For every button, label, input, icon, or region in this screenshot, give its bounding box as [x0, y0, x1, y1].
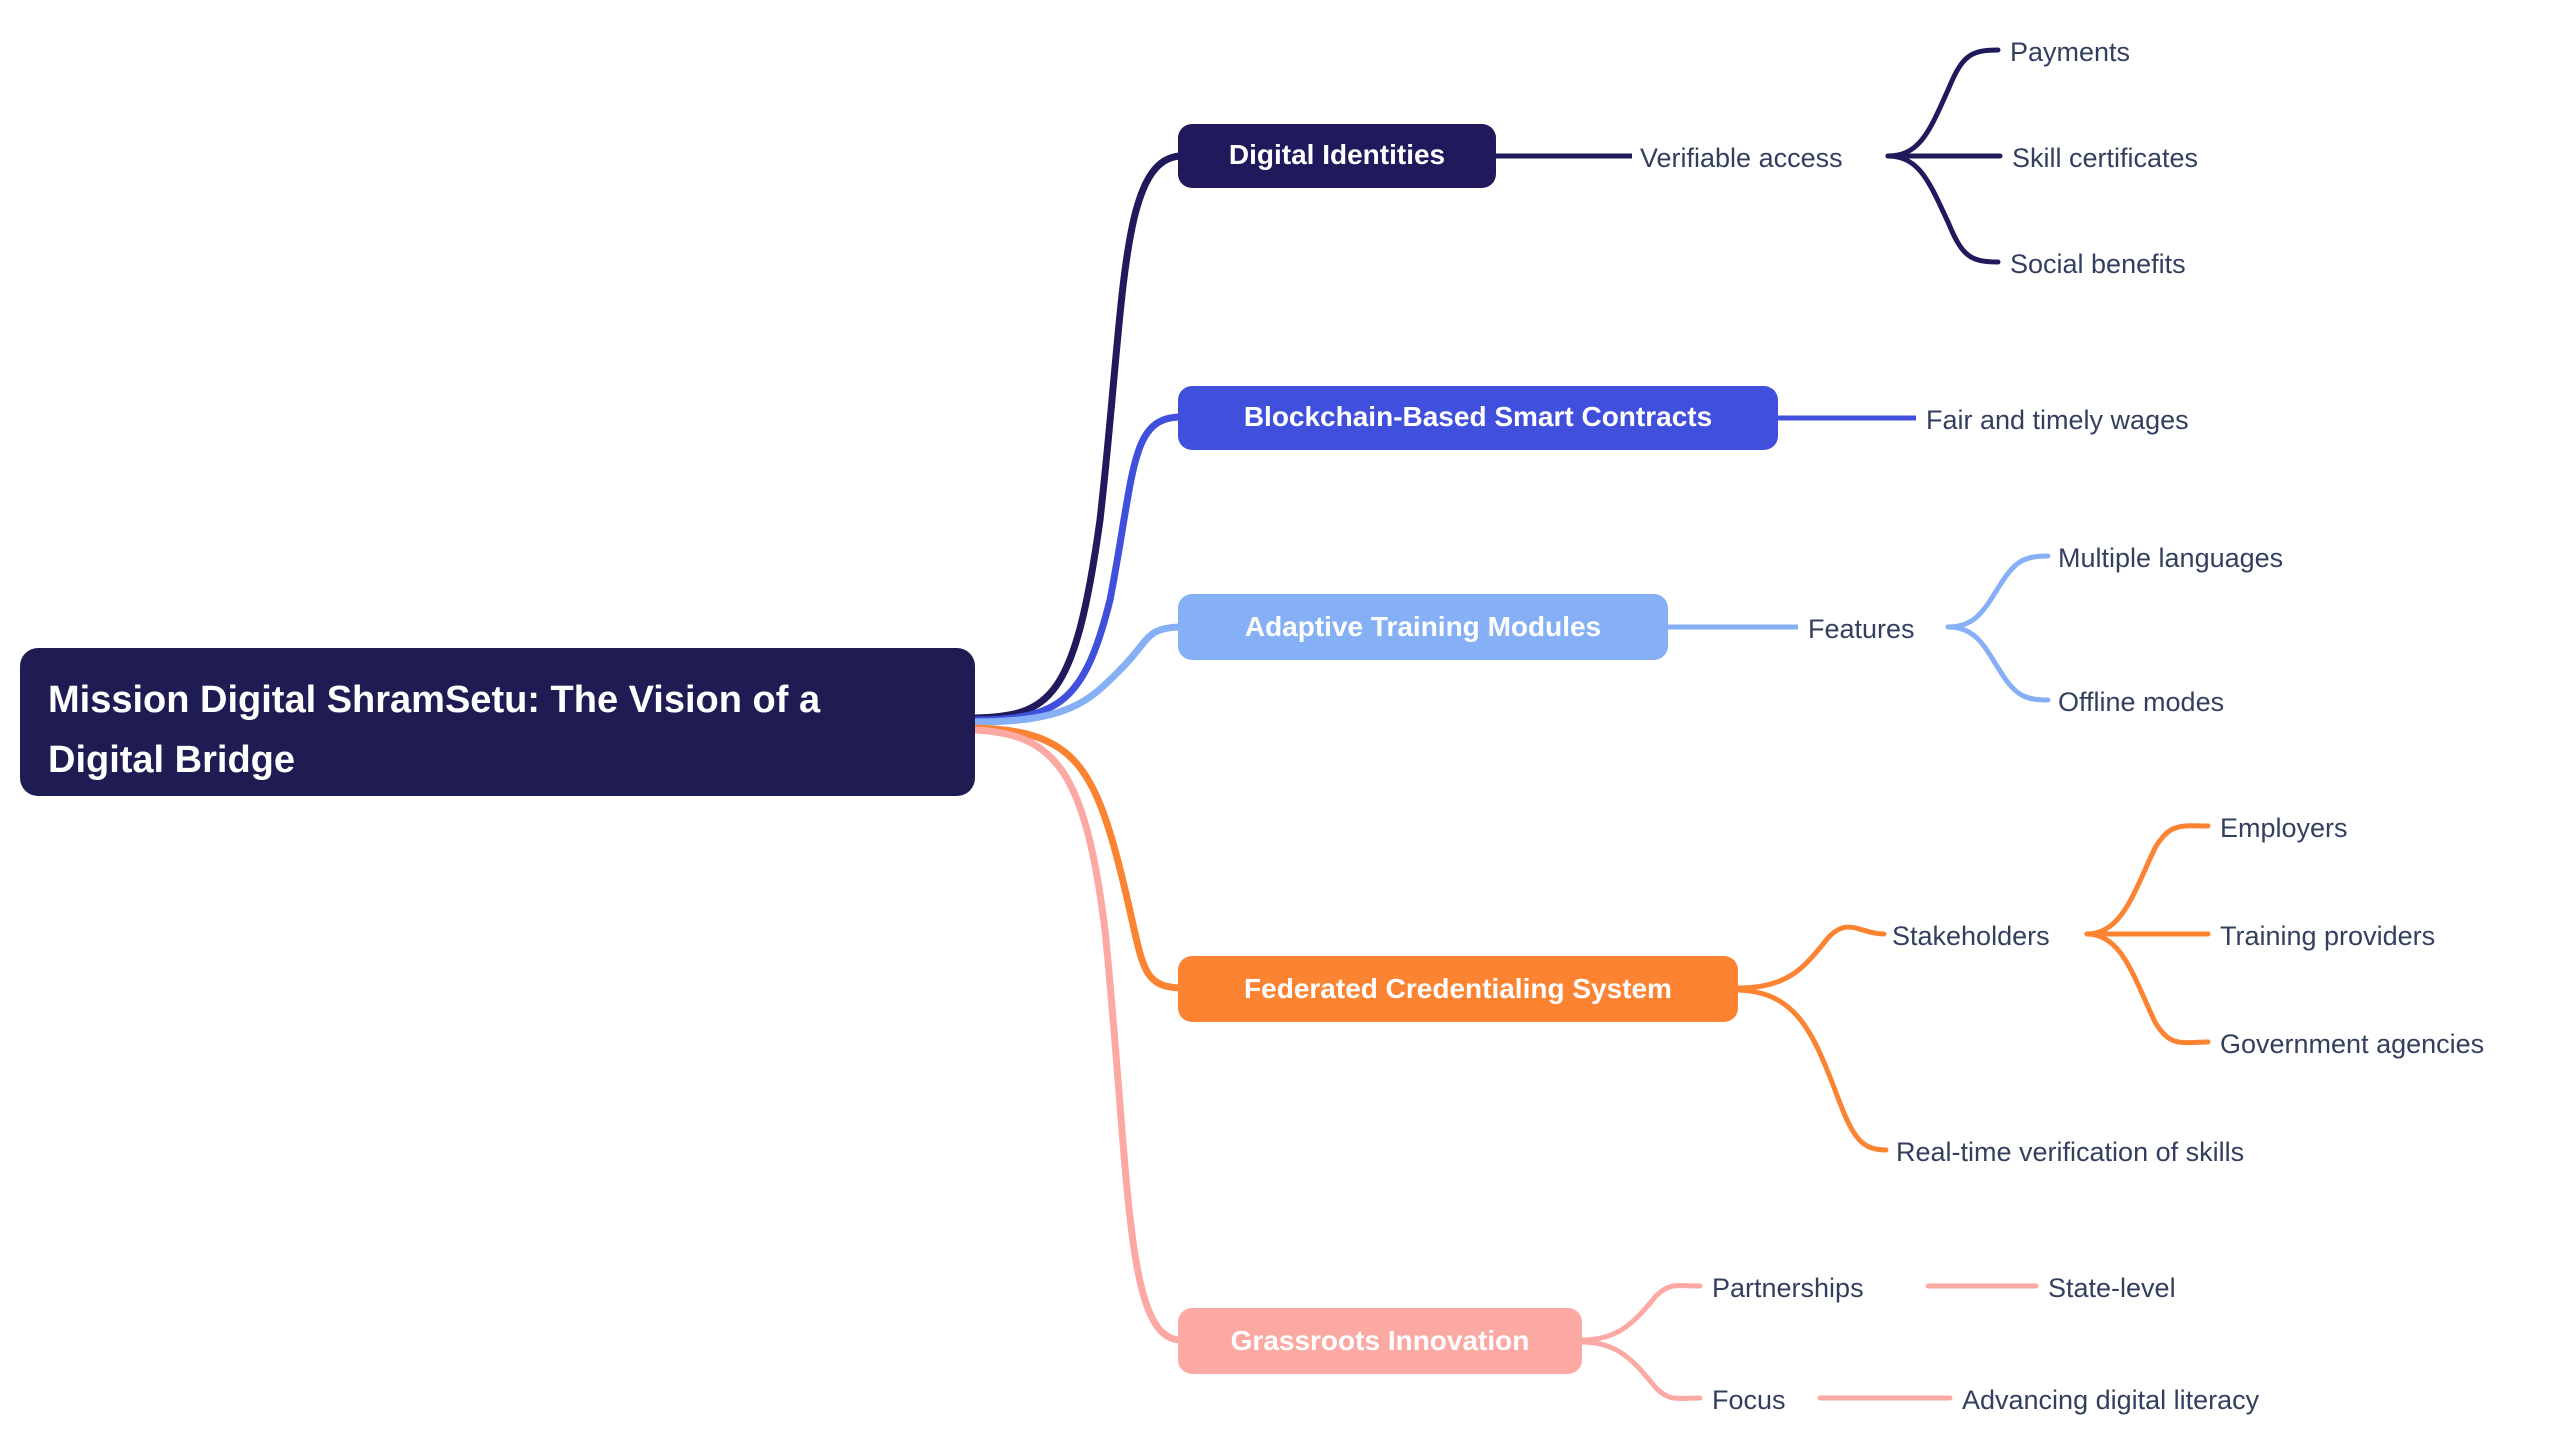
leaf-fair-and-timely-wages[interactable]: Fair and timely wages	[1926, 405, 2189, 435]
node-adaptive-training-modules-label: Adaptive Training Modules	[1245, 611, 1601, 642]
leaf-state-level[interactable]: State-level	[2048, 1273, 2176, 1303]
edge-group-root	[975, 156, 1180, 1340]
leaf-real-time-verification-of-skills[interactable]: Real-time verification of skills	[1896, 1137, 2244, 1167]
leaf-partnerships[interactable]: Partnerships	[1712, 1273, 1864, 1303]
leaf-payments[interactable]: Payments	[2010, 37, 2130, 67]
edge-features-to-multiple-languages	[1948, 556, 2048, 627]
edge-federated-to-realtime-verification	[1738, 990, 1886, 1150]
node-grassroots-innovation-label: Grassroots Innovation	[1231, 1325, 1530, 1356]
edge-root-to-blockchain	[975, 417, 1180, 720]
leaf-government-agencies[interactable]: Government agencies	[2220, 1029, 2484, 1059]
edge-stakeholders-to-government-agencies	[2087, 934, 2208, 1043]
node-blockchain-based-smart-contracts-label: Blockchain-Based Smart Contracts	[1244, 401, 1712, 432]
edge-stakeholders-to-employers	[2087, 826, 2208, 934]
leaf-multiple-languages[interactable]: Multiple languages	[2058, 543, 2283, 573]
edge-grassroots-to-focus	[1582, 1342, 1700, 1399]
leaf-focus[interactable]: Focus	[1712, 1385, 1786, 1415]
edge-features-to-offline-modes	[1948, 627, 2048, 700]
leaf-social-benefits[interactable]: Social benefits	[2010, 249, 2186, 279]
edge-federated-to-stakeholders	[1738, 927, 1884, 988]
node-root-label-line2: Digital Bridge	[48, 739, 295, 781]
leaf-offline-modes[interactable]: Offline modes	[2058, 687, 2224, 717]
leaf-stakeholders[interactable]: Stakeholders	[1892, 921, 2050, 951]
branch-blockchain-based-smart-contracts: Blockchain-Based Smart Contracts Fair an…	[1178, 386, 2189, 450]
edge-verifiable-access-to-social-benefits	[1888, 156, 1998, 262]
branch-adaptive-training-modules: Adaptive Training Modules Features Multi…	[1178, 543, 2283, 717]
node-federated-credentialing-system-label: Federated Credentialing System	[1244, 973, 1672, 1004]
branch-digital-identities: Digital Identities Verifiable access Pay…	[1178, 37, 2198, 279]
mind-map-canvas: Digital Identities Verifiable access Pay…	[0, 0, 2560, 1438]
leaf-training-providers[interactable]: Training providers	[2220, 921, 2435, 951]
edge-verifiable-access-to-payments	[1888, 50, 1998, 156]
leaf-advancing-digital-literacy[interactable]: Advancing digital literacy	[1962, 1385, 2260, 1415]
edge-root-to-grassroots	[975, 730, 1180, 1340]
node-root-label: Mission Digital ShramSetu: The Vision of…	[48, 679, 821, 721]
root-node-group: Mission Digital ShramSetu: The Vision of…	[20, 648, 975, 796]
edge-root-to-federated	[975, 728, 1180, 988]
branch-grassroots-innovation: Grassroots Innovation Partnerships State…	[1178, 1273, 2260, 1415]
edge-grassroots-to-partnerships	[1582, 1285, 1700, 1340]
leaf-features[interactable]: Features	[1808, 614, 1915, 644]
leaf-employers[interactable]: Employers	[2220, 813, 2348, 843]
leaf-verifiable-access[interactable]: Verifiable access	[1640, 143, 1843, 173]
leaf-skill-certificates[interactable]: Skill certificates	[2012, 143, 2198, 173]
branch-federated-credentialing-system: Federated Credentialing System Stakehold…	[1178, 813, 2484, 1167]
node-digital-identities-label: Digital Identities	[1229, 139, 1445, 170]
